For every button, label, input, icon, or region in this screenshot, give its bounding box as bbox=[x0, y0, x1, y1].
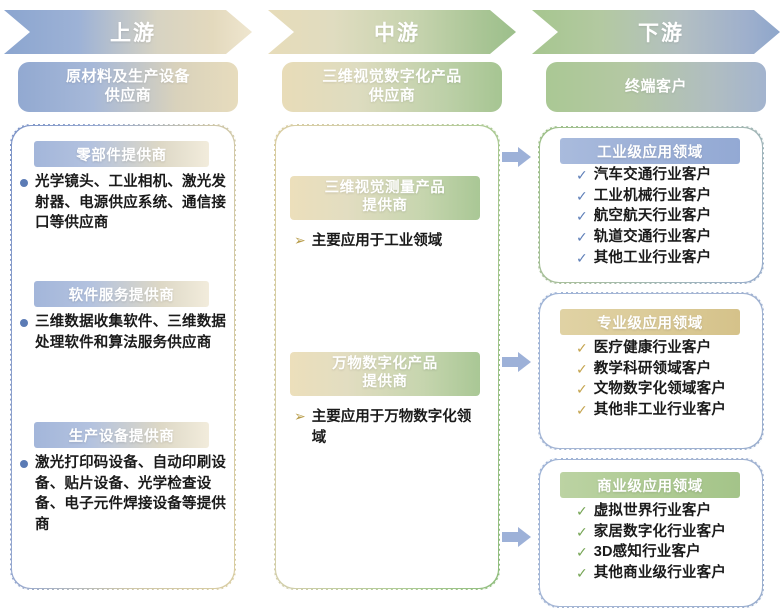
stage-banner-downstream: 下游 bbox=[532, 10, 780, 54]
group-header-label: 生产设备提供商 bbox=[69, 425, 175, 446]
list-item: 激光打印码设备、自动印刷设备、贴片设备、光学检查设备、电子元件焊接设备等提供商 bbox=[20, 453, 228, 535]
connector-arrow-professional bbox=[502, 352, 532, 372]
list-item-text: 光学镜头、工业相机、激光发射器、电源供应系统、通信接口等供应商 bbox=[35, 172, 228, 234]
group-items-professional-application: ✓ 医疗健康行业客户 ✓ 教学科研领域客户 ✓ 文物数字化领域客户 ✓ 其他非工… bbox=[576, 339, 766, 422]
arrow-head-icon bbox=[518, 147, 531, 167]
list-item: ➢ 主要应用于万物数字化领域 bbox=[294, 407, 474, 448]
list-item-text: 3D感知行业客户 bbox=[594, 543, 701, 563]
group-header-everything-digital-product: 万物数字化产品 提供商 bbox=[290, 352, 480, 396]
group-header-label: 工业级应用领域 bbox=[597, 141, 703, 162]
check-icon: ✓ bbox=[576, 402, 588, 419]
arrow-bullet-icon: ➢ bbox=[294, 232, 306, 249]
group-header-line-1: 三维视觉测量产品 bbox=[325, 180, 446, 198]
list-item-text: 主要应用于万物数字化领域 bbox=[312, 407, 474, 448]
check-icon: ✓ bbox=[576, 250, 588, 267]
check-icon: ✓ bbox=[576, 565, 588, 582]
group-items-everything-digital-product: ➢ 主要应用于万物数字化领域 bbox=[294, 407, 474, 448]
list-item: ✓ 教学科研领域客户 bbox=[576, 360, 766, 380]
list-item: ✓ 其他非工业行业客户 bbox=[576, 401, 766, 421]
check-icon: ✓ bbox=[576, 167, 588, 184]
arrow-head-icon bbox=[518, 352, 531, 372]
role-pill-downstream: 终端客户 bbox=[546, 62, 766, 112]
list-item: ✓ 家居数字化行业客户 bbox=[576, 523, 766, 543]
stage-label-upstream: 上游 bbox=[100, 17, 156, 47]
check-icon: ✓ bbox=[576, 544, 588, 561]
list-item-text: 轨道交通行业客户 bbox=[594, 228, 712, 248]
list-item-text: 虚拟世界行业客户 bbox=[594, 502, 712, 522]
arrow-head-icon bbox=[518, 527, 531, 547]
column-downstream: 下游 终端客户 工业级应用领域 ✓ 汽车交通行业客户 ✓ 工业机械行业客户 ✓ … bbox=[532, 0, 780, 612]
list-item-text: 医疗健康行业客户 bbox=[594, 339, 712, 359]
list-item: ✓ 汽车交通行业客户 bbox=[576, 166, 766, 186]
list-item: ✓ 3D感知行业客户 bbox=[576, 543, 766, 563]
stage-label-midstream: 中游 bbox=[364, 17, 420, 47]
group-items-3d-measurement-product: ➢ 主要应用于工业领域 bbox=[294, 231, 490, 252]
group-header-industrial-application: 工业级应用领域 bbox=[560, 138, 740, 164]
value-chain-diagram: 上游 原材料及生产设备 供应商 零部件提供商 光学镜头、工业相机、激光发射器、电… bbox=[0, 0, 780, 612]
check-icon: ✓ bbox=[576, 229, 588, 246]
group-items-industrial-application: ✓ 汽车交通行业客户 ✓ 工业机械行业客户 ✓ 航空航天行业客户 ✓ 轨道交通行… bbox=[576, 166, 766, 270]
bullet-dot-icon bbox=[20, 319, 28, 327]
list-item: ✓ 其他商业级行业客户 bbox=[576, 564, 766, 584]
role-label-upstream: 原材料及生产设备 供应商 bbox=[66, 68, 190, 106]
list-item-text: 其他工业行业客户 bbox=[594, 249, 712, 269]
role-line-1: 原材料及生产设备 bbox=[66, 68, 190, 85]
role-line-1: 三维视觉数字化产品 bbox=[322, 68, 462, 85]
bullet-dot-icon bbox=[20, 179, 28, 187]
list-item: ➢ 主要应用于工业领域 bbox=[294, 231, 490, 252]
list-item-text: 其他非工业行业客户 bbox=[594, 401, 726, 421]
list-item-text: 文物数字化领域客户 bbox=[594, 380, 726, 400]
list-item: ✓ 工业机械行业客户 bbox=[576, 187, 766, 207]
list-item: 三维数据收集软件、三维数据处理软件和算法服务供应商 bbox=[20, 312, 228, 353]
group-header-line-2: 提供商 bbox=[362, 198, 407, 216]
stage-label-downstream: 下游 bbox=[628, 17, 684, 47]
list-item-text: 三维数据收集软件、三维数据处理软件和算法服务供应商 bbox=[35, 312, 228, 353]
group-header-professional-application: 专业级应用领域 bbox=[560, 309, 740, 335]
connector-arrow-commercial bbox=[502, 527, 532, 547]
group-header-3d-measurement-product: 三维视觉测量产品 提供商 bbox=[290, 176, 480, 220]
column-upstream: 上游 原材料及生产设备 供应商 零部件提供商 光学镜头、工业相机、激光发射器、电… bbox=[4, 0, 252, 612]
group-header-label: 零部件提供商 bbox=[76, 144, 167, 165]
check-icon: ✓ bbox=[576, 340, 588, 357]
list-item: ✓ 航空航天行业客户 bbox=[576, 207, 766, 227]
group-header-line-1: 万物数字化产品 bbox=[332, 356, 438, 374]
list-item: ✓ 轨道交通行业客户 bbox=[576, 228, 766, 248]
group-header-production-equipment: 生产设备提供商 bbox=[34, 422, 209, 448]
check-icon: ✓ bbox=[576, 503, 588, 520]
check-icon: ✓ bbox=[576, 381, 588, 398]
bullet-dot-icon bbox=[20, 460, 28, 468]
list-item: 光学镜头、工业相机、激光发射器、电源供应系统、通信接口等供应商 bbox=[20, 172, 228, 234]
group-items-parts-supplier: 光学镜头、工业相机、激光发射器、电源供应系统、通信接口等供应商 bbox=[20, 172, 228, 236]
group-header-line-2: 提供商 bbox=[362, 374, 407, 392]
list-item-text: 主要应用于工业领域 bbox=[312, 231, 443, 252]
role-label-downstream: 终端客户 bbox=[625, 78, 687, 97]
list-item-text: 工业机械行业客户 bbox=[594, 187, 712, 207]
check-icon: ✓ bbox=[576, 361, 588, 378]
group-items-software-service: 三维数据收集软件、三维数据处理软件和算法服务供应商 bbox=[20, 312, 228, 355]
arrow-bullet-icon: ➢ bbox=[294, 408, 306, 425]
column-midstream: 中游 三维视觉数字化产品 供应商 三维视觉测量产品 提供商 ➢ 主要应用于工业领… bbox=[268, 0, 516, 612]
group-items-production-equipment: 激光打印码设备、自动印刷设备、贴片设备、光学检查设备、电子元件焊接设备等提供商 bbox=[20, 453, 228, 537]
list-item-text: 激光打印码设备、自动印刷设备、贴片设备、光学检查设备、电子元件焊接设备等提供商 bbox=[35, 453, 228, 535]
group-header-commercial-application: 商业级应用领域 bbox=[560, 472, 740, 498]
list-item: ✓ 医疗健康行业客户 bbox=[576, 339, 766, 359]
group-header-label: 商业级应用领域 bbox=[597, 475, 703, 496]
list-item: ✓ 其他工业行业客户 bbox=[576, 249, 766, 269]
role-label-midstream: 三维视觉数字化产品 供应商 bbox=[322, 68, 462, 106]
list-item-text: 汽车交通行业客户 bbox=[594, 166, 712, 186]
stage-banner-upstream: 上游 bbox=[4, 10, 252, 54]
list-item-text: 家居数字化行业客户 bbox=[594, 523, 726, 543]
list-item-text: 教学科研领域客户 bbox=[594, 360, 712, 380]
group-header-software-service: 软件服务提供商 bbox=[34, 281, 209, 307]
stage-banner-midstream: 中游 bbox=[268, 10, 516, 54]
check-icon: ✓ bbox=[576, 208, 588, 225]
connector-arrow-industrial bbox=[502, 147, 532, 167]
list-item-text: 其他商业级行业客户 bbox=[594, 564, 726, 584]
group-header-label: 专业级应用领域 bbox=[597, 312, 703, 333]
list-item: ✓ 虚拟世界行业客户 bbox=[576, 502, 766, 522]
list-item: ✓ 文物数字化领域客户 bbox=[576, 380, 766, 400]
list-item-text: 航空航天行业客户 bbox=[594, 207, 712, 227]
role-pill-upstream: 原材料及生产设备 供应商 bbox=[18, 62, 238, 112]
group-header-parts-supplier: 零部件提供商 bbox=[34, 141, 209, 167]
group-header-label: 软件服务提供商 bbox=[69, 284, 175, 305]
role-line-2: 供应商 bbox=[369, 87, 416, 104]
group-items-commercial-application: ✓ 虚拟世界行业客户 ✓ 家居数字化行业客户 ✓ 3D感知行业客户 ✓ 其他商业… bbox=[576, 502, 766, 585]
role-line-2: 供应商 bbox=[105, 87, 152, 104]
check-icon: ✓ bbox=[576, 524, 588, 541]
role-pill-midstream: 三维视觉数字化产品 供应商 bbox=[282, 62, 502, 112]
check-icon: ✓ bbox=[576, 188, 588, 205]
